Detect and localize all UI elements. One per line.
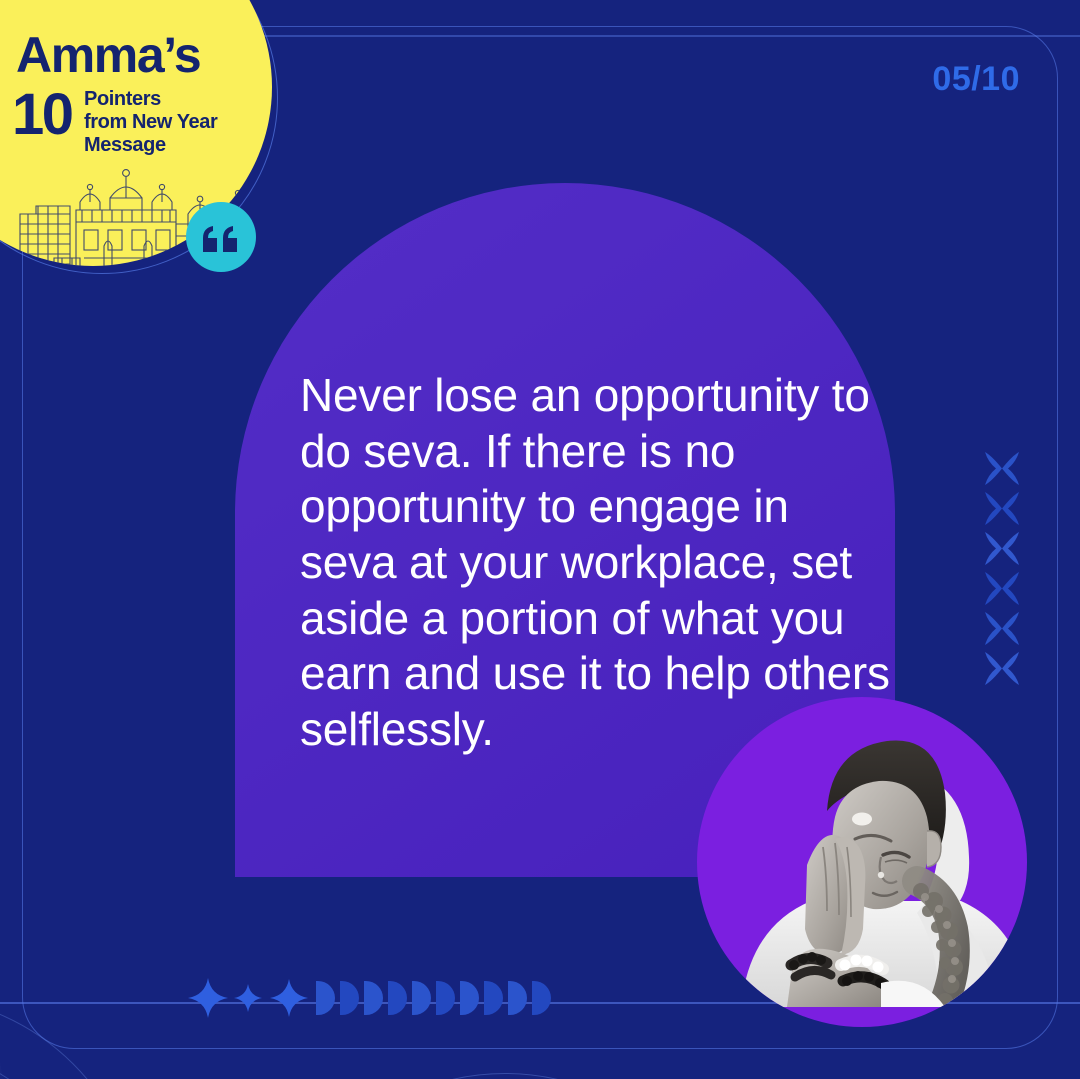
quote-mark-badge (186, 202, 256, 272)
social-card: Amma’s 10 Pointers from New Year Message (0, 0, 1080, 1079)
badge-title: Amma’s (16, 30, 200, 80)
half-disc-icon (460, 981, 479, 1015)
half-disc-icon (316, 981, 335, 1015)
x-sparkle-icon (982, 572, 1022, 605)
x-sparkle-icon (982, 532, 1022, 565)
four-point-star-icon (234, 984, 262, 1012)
quote-text: Never lose an opportunity to do seva. If… (300, 368, 890, 758)
half-disc-icon (508, 981, 527, 1015)
badge-number: 10 (12, 86, 72, 144)
half-disc-icon (532, 981, 551, 1015)
x-sparkle-icon (982, 452, 1022, 485)
badge-subtitle-line-3: Message (84, 134, 166, 156)
page-counter: 05/10 (932, 60, 1020, 99)
half-disc-icon (484, 981, 503, 1015)
quotation-mark-icon (201, 222, 241, 252)
four-point-star-icon (188, 978, 228, 1018)
half-disc-icon (388, 981, 407, 1015)
x-sparkle-icon (982, 492, 1022, 525)
x-sparkle-column (982, 452, 1026, 685)
x-sparkle-icon (982, 612, 1022, 645)
x-sparkle-icon (982, 652, 1022, 685)
badge-subtitle-line-1: Pointers (84, 88, 161, 110)
half-disc-icon (412, 981, 431, 1015)
half-disc-icon (364, 981, 383, 1015)
half-disc-icon (340, 981, 359, 1015)
badge-subtitle-line-2: from New Year (84, 111, 217, 133)
half-disc-icon (436, 981, 455, 1015)
bottom-decoration-row (188, 978, 556, 1018)
four-point-star-icon (270, 979, 308, 1017)
amma-portrait-photo (731, 715, 1027, 1007)
badge-subtitle: Pointers from New Year Message (84, 88, 264, 158)
